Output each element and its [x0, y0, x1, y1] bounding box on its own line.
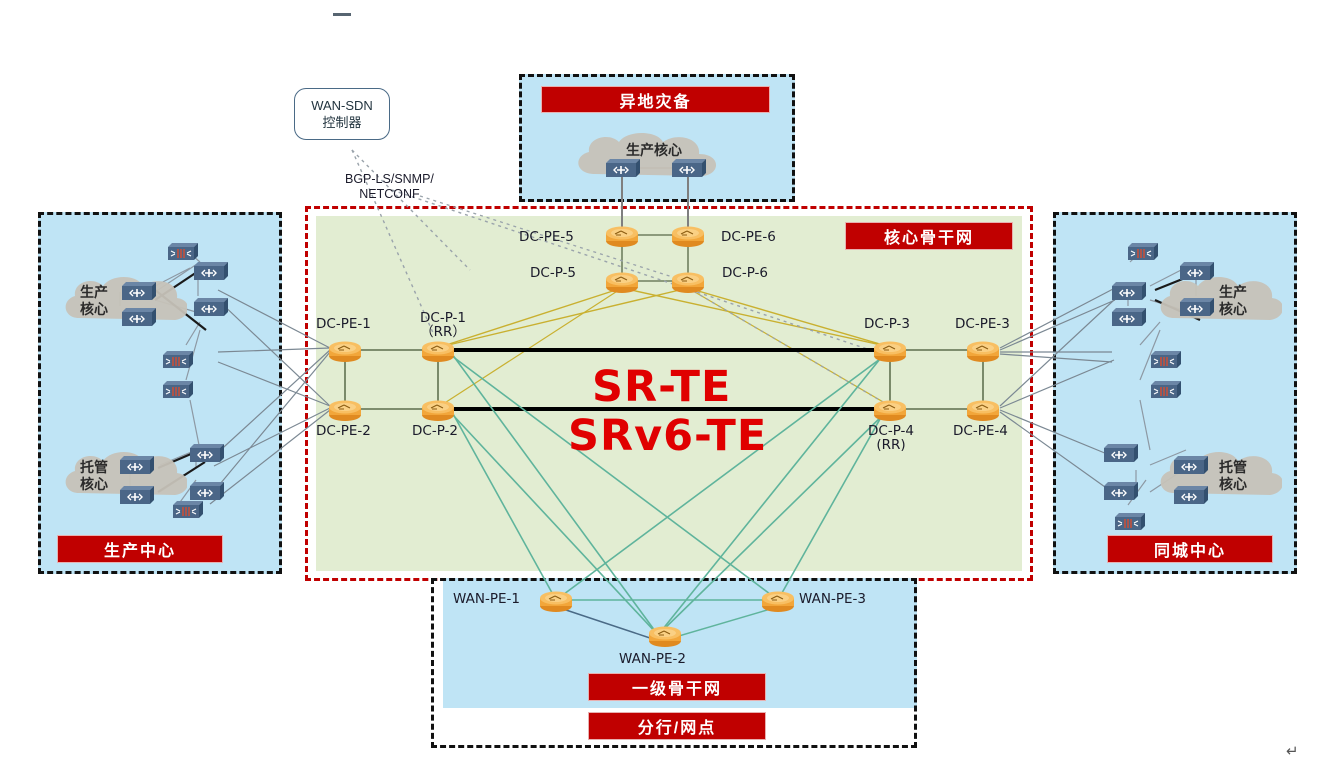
firewall-icon: [165, 240, 201, 264]
switch-icon: [1170, 482, 1210, 508]
router-dc-p-5: [604, 268, 640, 294]
label-dc-p-5: DC-P-5: [530, 266, 576, 280]
label-dc-p-3: DC-P-3: [864, 317, 910, 331]
cloud-label-line1: 生产: [80, 284, 108, 301]
cloud-label-line2: 核心: [1219, 476, 1247, 493]
srv6-te-label: SRv6-TE: [568, 411, 767, 461]
switch-icon: [116, 452, 156, 478]
return-mark: ↵: [1286, 742, 1299, 760]
protocol-line-1: BGP-LS/SNMP/: [345, 172, 434, 187]
label-dc-p-6: DC-P-6: [722, 266, 768, 280]
banner-disaster-recovery: 异地灾备: [541, 86, 770, 113]
switch-icon: [1170, 452, 1210, 478]
router-wan-pe-1: [538, 587, 574, 613]
router-dc-pe-5: [604, 222, 640, 248]
label-dc-pe-2: DC-PE-2: [316, 424, 371, 438]
switch-icon: [602, 155, 642, 181]
label-dc-p-4-rr: (RR): [858, 438, 924, 452]
cloud-label-line1: 托管: [80, 459, 108, 476]
switch-icon: [668, 155, 708, 181]
firewall-icon: [160, 348, 196, 372]
label-dc-pe-5: DC-PE-5: [519, 230, 574, 244]
router-dc-pe-2: [327, 396, 363, 422]
banner-branch-outlet: 分行/网点: [588, 712, 766, 740]
router-wan-pe-2: [647, 622, 683, 648]
label-dc-pe-1: DC-PE-1: [316, 317, 371, 331]
cloud-label-line1: 生产: [1219, 284, 1247, 301]
label-dc-pe-3: DC-PE-3: [955, 317, 1010, 331]
router-dc-p-6: [670, 268, 706, 294]
cloud-dr-production-core: 生产核心: [565, 128, 743, 190]
switch-icon: [1176, 294, 1216, 320]
firewall-icon: [160, 378, 196, 402]
router-dc-pe-3: [965, 337, 1001, 363]
switch-icon: [116, 482, 156, 508]
switch-icon: [1108, 304, 1148, 330]
label-dc-p-1: DC-P-1 （RR）: [408, 311, 478, 339]
router-dc-p-2: [420, 396, 456, 422]
banner-production-center: 生产中心: [57, 535, 223, 563]
router-dc-pe-6: [670, 222, 706, 248]
banner-core-backbone: 核心骨干网: [845, 222, 1013, 250]
stray-tick-mark: [333, 13, 351, 16]
label-dc-pe-4: DC-PE-4: [953, 424, 1008, 438]
cloud-label-line1: 托管: [1219, 459, 1247, 476]
firewall-icon: [1148, 348, 1184, 372]
banner-same-city-center: 同城中心: [1107, 535, 1273, 563]
firewall-icon: [1148, 378, 1184, 402]
controller-name: WAN-SDN: [311, 97, 373, 114]
wan-sdn-controller[interactable]: WAN-SDN 控制器: [294, 88, 390, 140]
router-dc-p-1: [420, 337, 456, 363]
controller-protocol-caption: BGP-LS/SNMP/ NETCONF: [345, 172, 434, 202]
label-dc-p-2: DC-P-2: [412, 424, 458, 438]
switch-icon: [186, 440, 226, 466]
firewall-icon: [1112, 510, 1148, 534]
router-dc-pe-4: [965, 396, 1001, 422]
switch-icon: [1100, 440, 1140, 466]
label-wan-pe-1: WAN-PE-1: [453, 592, 520, 606]
router-dc-p-3: [872, 337, 908, 363]
switch-icon: [1176, 258, 1216, 284]
label-wan-pe-3: WAN-PE-3: [799, 592, 866, 606]
switch-icon: [1108, 278, 1148, 304]
switch-icon: [190, 294, 230, 320]
label-dc-p-4-name: DC-P-4: [858, 424, 924, 438]
switch-icon: [1100, 478, 1140, 504]
label-dc-p-4: DC-P-4 (RR): [858, 424, 924, 452]
cloud-label-line2: 核心: [80, 301, 108, 318]
cloud-label-line2: 核心: [80, 476, 108, 493]
sr-te-label: SR-TE: [592, 362, 731, 412]
label-dc-p-1-name: DC-P-1: [408, 311, 478, 325]
firewall-icon: [170, 498, 206, 522]
cloud-right-production-core: 生产 核心: [1152, 268, 1282, 334]
cloud-label: 生产核心: [565, 128, 743, 204]
diagram-canvas: 生产核心 生产 核心 托管 核心 生产 核心 托管: [0, 0, 1338, 783]
switch-icon: [118, 278, 158, 304]
router-wan-pe-3: [760, 587, 796, 613]
protocol-line-2: NETCONF: [345, 187, 434, 202]
label-dc-pe-6: DC-PE-6: [721, 230, 776, 244]
label-wan-pe-2: WAN-PE-2: [619, 652, 686, 666]
label-dc-p-1-rr: （RR）: [408, 325, 478, 339]
cloud-label-line2: 核心: [1219, 301, 1247, 318]
router-dc-p-4: [872, 396, 908, 422]
firewall-icon: [1125, 240, 1161, 264]
router-dc-pe-1: [327, 337, 363, 363]
switch-icon: [118, 304, 158, 330]
banner-level1-backbone: 一级骨干网: [588, 673, 766, 701]
controller-subtitle: 控制器: [322, 114, 361, 131]
